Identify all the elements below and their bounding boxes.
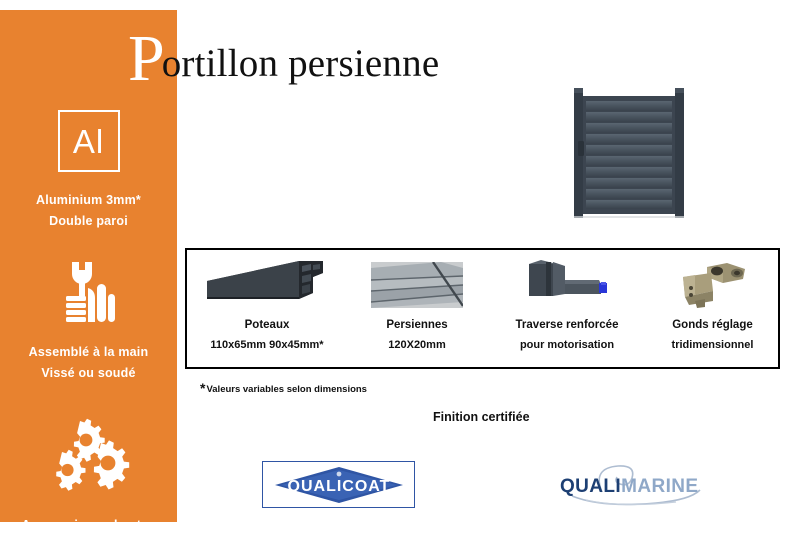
poteau-profile-image (187, 256, 347, 314)
sidebar-feature-assembly-line2: Vissé ou soudé (0, 363, 177, 384)
sidebar-feature-aluminium: Al Aluminium 3mm* Double paroi (0, 110, 177, 232)
sidebar-feature-accessories: Accessoires robustes (0, 415, 177, 536)
component-poteaux-spec: 110x65mm 90x45mm* (187, 336, 347, 354)
footnote: *Valeurs variables selon dimensions (200, 380, 367, 396)
sidebar-feature-accessories-line1: Accessoires robustes (0, 515, 177, 536)
hand-wrench-icon (52, 258, 126, 328)
component-traverse-spec: pour motorisation (487, 336, 647, 354)
component-poteaux: Poteaux 110x65mm 90x45mm* (187, 250, 347, 371)
portillon-persienne-product-image (566, 84, 692, 222)
traverse-motorisation-image (487, 256, 647, 314)
page-title: P ortillon persienne (128, 22, 442, 84)
components-box: Poteaux 110x65mm 90x45mm* Persiennes (185, 248, 780, 369)
component-traverse: Traverse renforcée pour motorisation (487, 250, 647, 371)
footnote-text: Valeurs variables selon dimensions (206, 384, 367, 395)
sidebar-feature-assembly-line1: Assemblé à la main (0, 342, 177, 363)
component-gonds-spec: tridimensionnel (647, 336, 778, 354)
page-title-text: ortillon persienne (162, 44, 440, 83)
persiennes-slats-image (347, 256, 487, 314)
qualimarine-logo-text-b: MARINE (621, 476, 698, 497)
sidebar-feature-aluminium-line1: Aluminium 3mm* (0, 190, 177, 211)
component-gonds-label: Gonds réglage (647, 316, 778, 334)
gond-hinge-image (647, 256, 778, 314)
sidebar-feature-aluminium-line2: Double paroi (0, 211, 177, 232)
component-persiennes: Persiennes 120X20mm (347, 250, 487, 371)
page-title-drop-cap: P (128, 26, 165, 92)
sidebar-feature-assembly: Assemblé à la main Vissé ou soudé (0, 258, 177, 384)
component-traverse-label: Traverse renforcée (487, 316, 647, 334)
gears-icon (46, 415, 132, 491)
qualimarine-logo: QUALIMARINE (556, 462, 716, 508)
aluminium-square-icon: Al (58, 110, 120, 172)
component-gonds: Gonds réglage tridimensionnel (647, 250, 778, 371)
aluminium-symbol-text: Al (73, 125, 104, 158)
component-poteaux-label: Poteaux (187, 316, 347, 334)
qualicoat-logo-text: QUALICOAT (287, 478, 390, 495)
component-persiennes-spec: 120X20mm (347, 336, 487, 354)
qualicoat-logo: QUALICOAT (262, 461, 415, 508)
component-persiennes-label: Persiennes (347, 316, 487, 334)
qualimarine-logo-text-a: QUALI (560, 476, 621, 497)
certification-heading: Finition certifiée (433, 410, 530, 424)
footnote-star: * (200, 380, 205, 396)
qualimarine-logo-text: QUALIMARINE (560, 476, 698, 498)
product-sheet-page: Al Aluminium 3mm* Double paroi (0, 0, 800, 534)
